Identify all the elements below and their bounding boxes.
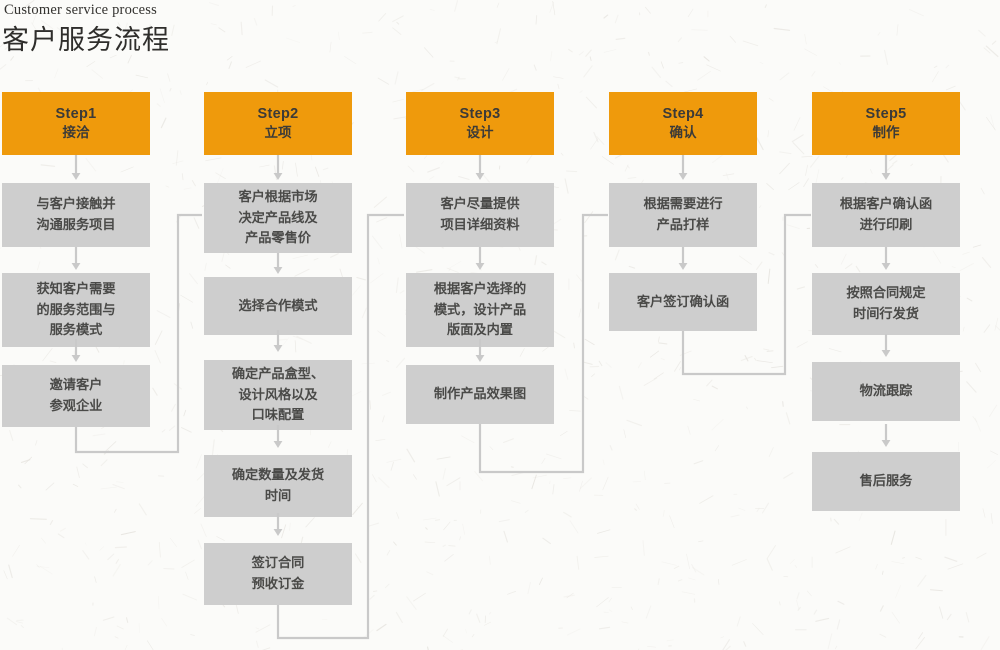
step-header-4[interactable]: Step4 确认 [609, 92, 757, 155]
node-line: 时间行发货 [846, 304, 925, 325]
node-line: 签订合同 [252, 553, 305, 574]
step-number-2: Step2 [258, 105, 299, 124]
down-arrow-icon [70, 247, 82, 273]
node-line: 客户尽量提供 [440, 194, 519, 215]
page-title-english: Customer service process [4, 2, 157, 19]
node-line: 邀请客户 [50, 375, 103, 396]
down-arrow-icon [70, 155, 82, 183]
flow-column-step2: Step2 立项 客户根据市场 决定产品线及 产品零售价 选择合作模式 确定产品… [204, 92, 352, 155]
process-node[interactable]: 确定数量及发货 时间 [204, 455, 352, 517]
process-node[interactable]: 根据客户选择的 模式，设计产品 版面及内置 [406, 273, 554, 347]
down-arrow-icon [880, 424, 892, 450]
process-node[interactable]: 确定产品盒型、 设计风格以及 口味配置 [204, 360, 352, 430]
down-arrow-icon [272, 253, 284, 277]
node-line: 确定数量及发货 [232, 465, 324, 486]
process-node[interactable]: 制作产品效果图 [406, 365, 554, 424]
node-line: 客户签订确认函 [637, 292, 729, 313]
page-title-chinese: 客户服务流程 [2, 18, 170, 57]
step-name-4: 确认 [670, 124, 697, 142]
step-number-3: Step3 [460, 105, 501, 124]
process-node[interactable]: 售后服务 [812, 452, 960, 511]
process-node[interactable]: 客户根据市场 决定产品线及 产品零售价 [204, 183, 352, 253]
flow-column-step5: Step5 制作 根据客户确认函 进行印刷 按照合同规定 时间行发货 物流跟踪 … [812, 92, 960, 155]
node-line: 选择合作模式 [238, 296, 317, 317]
process-node[interactable]: 邀请客户 参观企业 [2, 365, 150, 427]
node-line: 版面及内置 [434, 320, 526, 341]
process-node[interactable]: 根据需要进行 产品打样 [609, 183, 757, 247]
process-node[interactable]: 按照合同规定 时间行发货 [812, 273, 960, 335]
node-line: 获知客户需要 [36, 279, 115, 300]
step-header-3[interactable]: Step3 设计 [406, 92, 554, 155]
step-number-4: Step4 [663, 105, 704, 124]
down-arrow-icon [880, 334, 892, 360]
node-line: 设计风格以及 [232, 385, 324, 406]
node-line: 预收订金 [252, 574, 305, 595]
flow-column-step3: Step3 设计 客户尽量提供 项目详细资料 根据客户选择的 模式，设计产品 版… [406, 92, 554, 155]
node-line: 的服务范围与 [36, 300, 115, 321]
down-arrow-icon [880, 247, 892, 273]
process-node[interactable]: 根据客户确认函 进行印刷 [812, 183, 960, 247]
node-line: 项目详细资料 [440, 215, 519, 236]
step-header-1[interactable]: Step1 接洽 [2, 92, 150, 155]
step-number-1: Step1 [56, 105, 97, 124]
node-line: 决定产品线及 [238, 208, 317, 229]
node-line: 根据客户选择的 [434, 279, 526, 300]
down-arrow-icon [474, 247, 486, 273]
down-arrow-icon [677, 247, 689, 273]
flow-column-step1: Step1 接洽 与客户接触并 沟通服务项目 获知客户需要 的服务范围与 服务模… [2, 92, 150, 155]
flow-column-step4: Step4 确认 根据需要进行 产品打样 客户签订确认函 [609, 92, 757, 155]
process-node[interactable]: 与客户接触并 沟通服务项目 [2, 183, 150, 247]
step-name-5: 制作 [873, 124, 900, 142]
down-arrow-icon [474, 155, 486, 183]
down-arrow-icon [677, 155, 689, 183]
node-line: 根据需要进行 [643, 194, 722, 215]
node-line: 模式，设计产品 [434, 300, 526, 321]
node-line: 沟通服务项目 [36, 215, 115, 236]
node-line: 与客户接触并 [36, 194, 115, 215]
process-node[interactable]: 客户签订确认函 [609, 273, 757, 331]
node-line: 确定产品盒型、 [232, 364, 324, 385]
process-node[interactable]: 签订合同 预收订金 [204, 543, 352, 605]
process-node[interactable]: 物流跟踪 [812, 362, 960, 421]
step-header-5[interactable]: Step5 制作 [812, 92, 960, 155]
step-number-5: Step5 [866, 105, 907, 124]
node-line: 时间 [232, 486, 324, 507]
down-arrow-icon [272, 155, 284, 183]
process-node[interactable]: 客户尽量提供 项目详细资料 [406, 183, 554, 247]
node-line: 售后服务 [860, 471, 913, 492]
step-header-2[interactable]: Step2 立项 [204, 92, 352, 155]
node-line: 物流跟踪 [860, 381, 913, 402]
node-line: 制作产品效果图 [434, 384, 526, 405]
step-name-2: 立项 [265, 124, 292, 142]
down-arrow-icon [880, 155, 892, 183]
step-name-1: 接洽 [63, 124, 90, 142]
process-node[interactable]: 获知客户需要 的服务范围与 服务模式 [2, 273, 150, 347]
node-line: 产品零售价 [238, 228, 317, 249]
node-line: 进行印刷 [840, 215, 932, 236]
node-line: 客户根据市场 [238, 187, 317, 208]
node-line: 参观企业 [50, 396, 103, 417]
process-node[interactable]: 选择合作模式 [204, 277, 352, 335]
node-line: 根据客户确认函 [840, 194, 932, 215]
node-line: 服务模式 [36, 320, 115, 341]
step-name-3: 设计 [467, 124, 494, 142]
node-line: 产品打样 [643, 215, 722, 236]
node-line: 按照合同规定 [846, 283, 925, 304]
node-line: 口味配置 [232, 405, 324, 426]
